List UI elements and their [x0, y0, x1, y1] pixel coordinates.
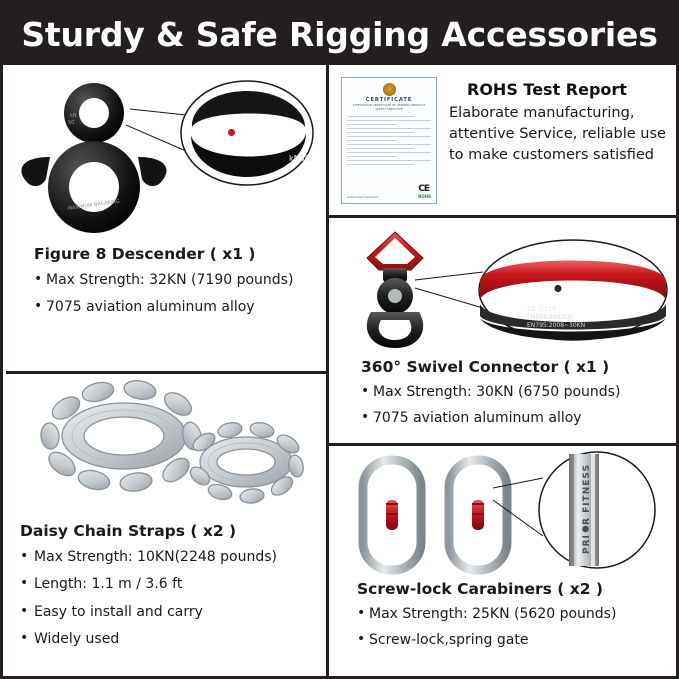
certificate-body-lines: [347, 116, 431, 165]
certificate-image: CERTIFICATE ATTESTATION CERTIFICATE OF G…: [341, 77, 437, 204]
rohs-mark-icon: ROHS: [418, 194, 431, 199]
bullet-item: Max Strength: 30KN (6750 pounds): [361, 382, 671, 402]
ce-mark-icon: CE: [418, 184, 431, 194]
daisy-chain-straps-text: Daisy Chain Straps ( x2 ) Max Strength: …: [20, 522, 320, 649]
certificate-subheading: ATTESTATION CERTIFICATE OF GENERAL PRODU…: [347, 104, 431, 112]
daisy-chain-straps-image: [6, 374, 326, 514]
product-bullets-daisy: Max Strength: 10KN(2248 pounds) Length: …: [20, 547, 320, 649]
header-banner: Sturdy & Safe Rigging Accessories: [3, 3, 676, 65]
svg-text:PRI: PRI: [206, 129, 225, 139]
product-title-swivel: 360° Swivel Connector ( x1 ): [361, 358, 671, 376]
panel-figure-8-descender: MAXIMUM BREAKING kN 50 PRI R FITNESS kN5…: [6, 65, 326, 371]
svg-text:EN354:2002CE: EN354:2002CE: [527, 314, 572, 321]
product-infographic: Sturdy & Safe Rigging Accessories: [0, 0, 679, 679]
bullet-item: Max Strength: 25KN (5620 pounds): [357, 604, 667, 624]
page-title: Sturdy & Safe Rigging Accessories: [21, 15, 657, 54]
svg-text:PRI: PRI: [533, 284, 553, 295]
svg-text:R FITNESS: R FITNESS: [562, 284, 622, 295]
rohs-title: ROHS Test Report: [449, 80, 666, 99]
svg-text:PRI: PRI: [582, 534, 592, 554]
rohs-description: Elaborate manufacturing, attentive Servi…: [449, 103, 666, 166]
svg-text:R FITNESS: R FITNESS: [582, 464, 592, 525]
product-title-figure-8: Figure 8 Descender ( x1 ): [34, 245, 324, 263]
bullet-item: Screw-lock,spring gate: [357, 630, 667, 650]
svg-text:EN795:2008~30KN: EN795:2008~30KN: [527, 322, 585, 329]
product-bullets-swivel: Max Strength: 30KN (6750 pounds) 7075 av…: [361, 382, 671, 429]
screw-lock-carabiners-text: Screw-lock Carabiners ( x2 ) Max Strengt…: [357, 580, 667, 651]
panel-rohs-test-report: CERTIFICATE ATTESTATION CERTIFICATE OF G…: [329, 65, 676, 215]
figure-8-descender-image: MAXIMUM BREAKING kN 50 PRI R FITNESS kN5…: [6, 65, 326, 225]
bullet-item: 7075 aviation aluminum alloy: [361, 408, 671, 428]
panel-swivel-connector: PRI R FITNESS CE 1019 EN354:2002CE EN795…: [329, 218, 676, 443]
certificate-signature: Authorized Signature: [347, 195, 379, 199]
swivel-connector-image: PRI R FITNESS CE 1019 EN354:2002CE EN795…: [337, 224, 667, 356]
product-title-carabiners: Screw-lock Carabiners ( x2 ): [357, 580, 667, 598]
svg-text:R FITNESS: R FITNESS: [236, 129, 293, 139]
panel-screw-lock-carabiners: PRI R FITNESS Screw-lock Carabiners ( x2…: [329, 446, 676, 679]
certificate-seal-icon: [383, 83, 396, 96]
figure-8-descender-text: Figure 8 Descender ( x1 ) Max Strength: …: [34, 245, 324, 318]
product-title-daisy: Daisy Chain Straps ( x2 ): [20, 522, 320, 540]
bullet-item: 7075 aviation aluminum alloy: [34, 297, 324, 317]
bullet-item: Easy to install and carry: [20, 602, 320, 622]
screw-lock-carabiners-image: PRI R FITNESS: [347, 448, 667, 578]
bullet-item: Length: 1.1 m / 3.6 ft: [20, 574, 320, 594]
product-bullets-figure-8: Max Strength: 32KN (7190 pounds) 7075 av…: [34, 270, 324, 318]
svg-text:kN: kN: [70, 113, 77, 119]
bullet-item: Widely used: [20, 629, 320, 649]
swivel-connector-text: 360° Swivel Connector ( x1 ) Max Strengt…: [361, 358, 671, 429]
svg-text:kN50: kN50: [289, 154, 310, 163]
svg-text:50: 50: [68, 120, 74, 126]
bullet-item: Max Strength: 10KN(2248 pounds): [20, 547, 320, 567]
product-bullets-carabiners: Max Strength: 25KN (5620 pounds) Screw-l…: [357, 604, 667, 651]
bullet-item: Max Strength: 32KN (7190 pounds): [34, 270, 324, 290]
panel-daisy-chain-straps: Daisy Chain Straps ( x2 ) Max Strength: …: [6, 374, 326, 679]
svg-text:CE 1019: CE 1019: [527, 305, 556, 313]
